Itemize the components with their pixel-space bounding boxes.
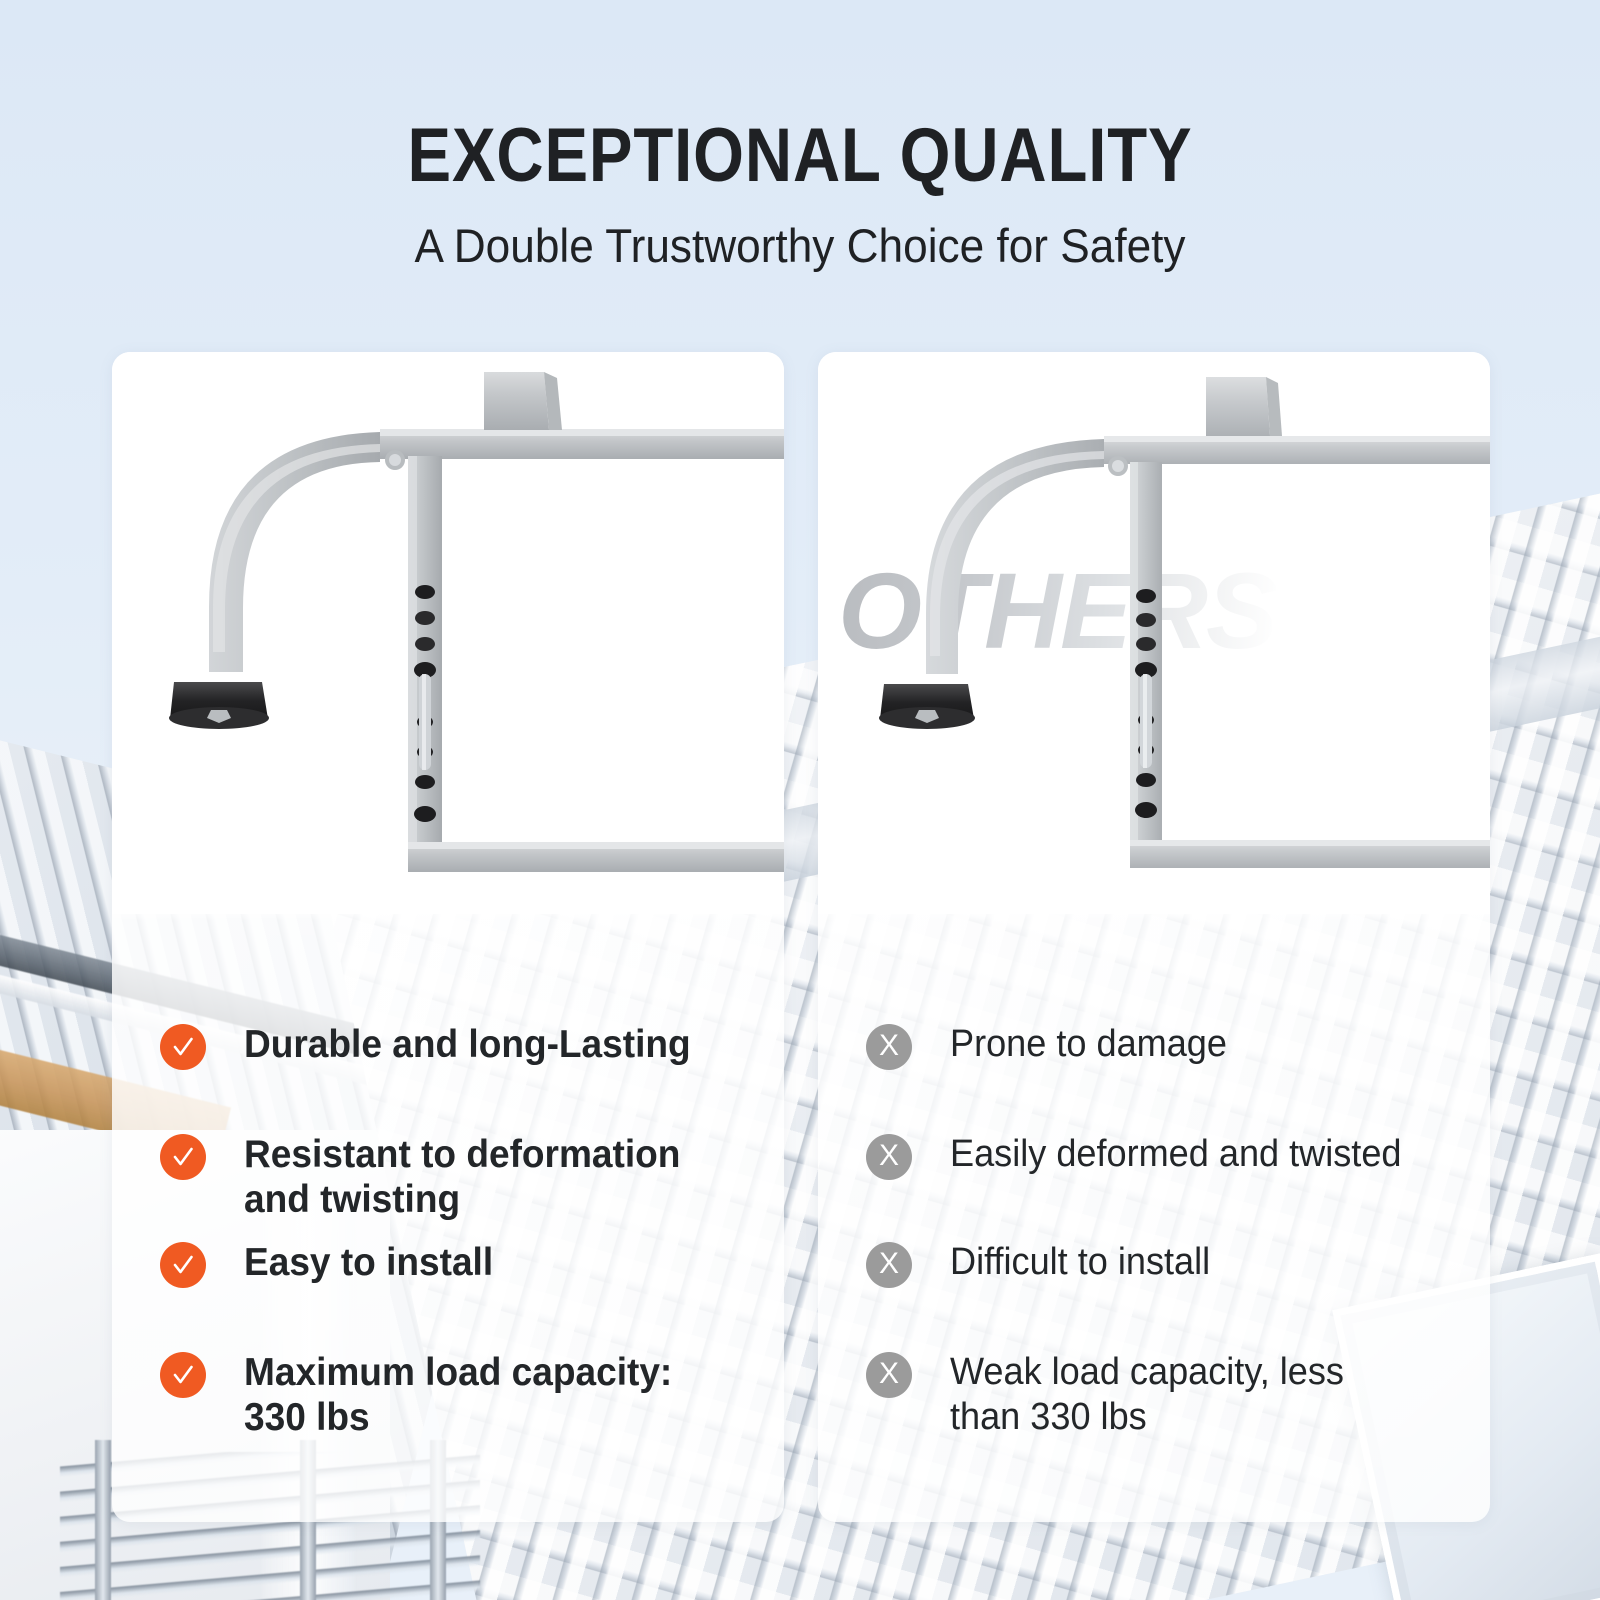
feature-item: Durable and long-Lasting [160,1022,760,1070]
x-icon: X [866,1024,912,1070]
feature-item: X Easily deformed and twisted [866,1132,1466,1180]
feature-label: Difficult to install [950,1240,1210,1285]
feature-label: Resistant to deformation and twisting [244,1132,680,1222]
check-icon [160,1242,206,1288]
feature-item: X Prone to damage [866,1022,1466,1070]
page-title: EXCEPTIONAL QUALITY [112,0,1488,194]
comparison-cards: OURS [112,352,1490,1522]
check-icon [160,1134,206,1180]
feature-item: Easy to install [160,1240,760,1288]
bracket-illustration-others [818,352,1490,914]
bracket-illustration-ours [112,352,784,914]
railing-post [95,1440,111,1600]
feature-label: Easy to install [244,1240,493,1285]
x-icon: X [866,1134,912,1180]
page-subtitle: A Double Trustworthy Choice for Safety [48,194,1552,272]
feature-item: X Difficult to install [866,1240,1466,1288]
feature-list-ours: Durable and long-Lasting Resistant to de… [112,914,784,1522]
feature-label: Prone to damage [950,1022,1227,1067]
card-others: OTHERS [818,352,1490,1522]
feature-label: Maximum load capacity: 330 lbs [244,1350,672,1440]
check-icon [160,1024,206,1070]
feature-item: Maximum load capacity: 330 lbs [160,1350,760,1440]
header: EXCEPTIONAL QUALITY A Double Trustworthy… [0,0,1600,272]
feature-item: X Weak load capacity, less than 330 lbs [866,1350,1466,1440]
card-ours: OURS [112,352,784,1522]
infographic-stage: EXCEPTIONAL QUALITY A Double Trustworthy… [0,0,1600,1600]
feature-list-others: X Prone to damage X Easily deformed and … [818,914,1490,1522]
check-icon [160,1352,206,1398]
product-image-ours: OURS [112,352,784,914]
x-icon: X [866,1242,912,1288]
feature-label: Durable and long-Lasting [244,1022,691,1067]
product-image-others: OTHERS [818,352,1490,914]
feature-item: Resistant to deformation and twisting [160,1132,760,1222]
feature-label: Easily deformed and twisted [950,1132,1401,1177]
x-icon: X [866,1352,912,1398]
feature-label: Weak load capacity, less than 330 lbs [950,1350,1344,1440]
